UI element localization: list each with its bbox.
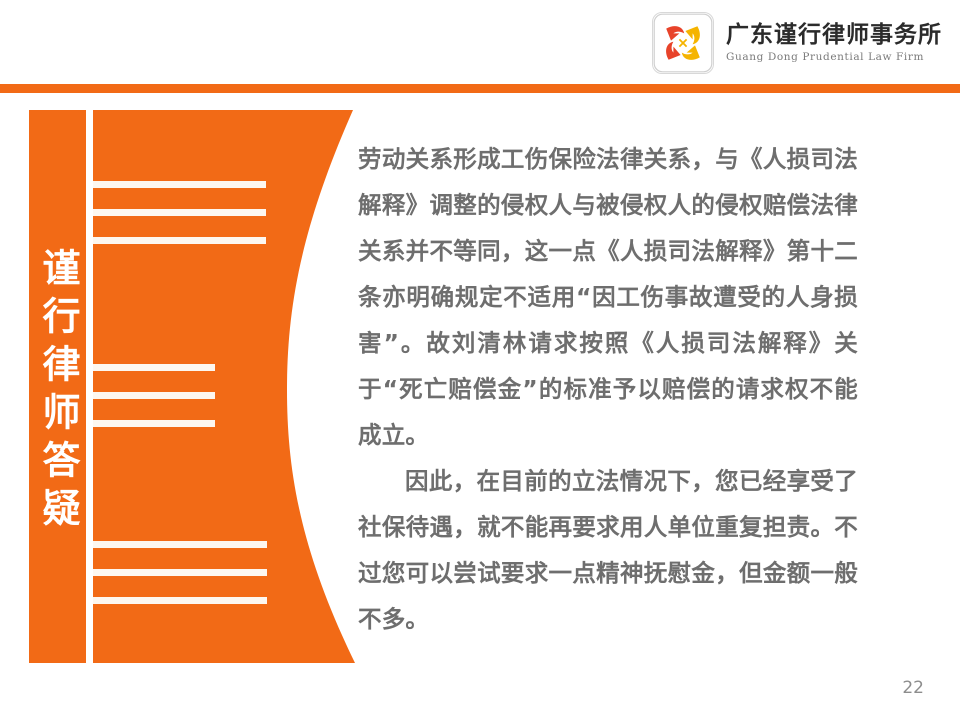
sidebar-vertical-title: 谨行律师答疑	[30, 248, 86, 536]
brand-text: 广东谨行律师事务所 Guang Dong Prudential Law Firm	[726, 24, 942, 63]
page-number: 22	[902, 678, 924, 698]
brand-name-en: Guang Dong Prudential Law Firm	[726, 52, 942, 63]
slide: 广东谨行律师事务所 Guang Dong Prudential Law Firm	[0, 0, 960, 720]
brand-name-cn: 广东谨行律师事务所	[726, 24, 942, 47]
pinwheel-logo-icon	[652, 12, 714, 74]
body-copy: 劳动关系形成工伤保险法律关系，与《人损司法解释》调整的侵权人与被侵权人的侵权赔偿…	[358, 136, 858, 642]
header-accent-rule	[0, 84, 960, 93]
paragraph-1: 劳动关系形成工伤保险法律关系，与《人损司法解释》调整的侵权人与被侵权人的侵权赔偿…	[358, 136, 858, 458]
sidebar-curved-panel	[93, 110, 355, 663]
paragraph-2: 因此，在目前的立法情况下，您已经享受了社保待遇，就不能再要求用人单位重复担责。不…	[358, 458, 858, 642]
brand-header: 广东谨行律师事务所 Guang Dong Prudential Law Firm	[652, 12, 942, 74]
